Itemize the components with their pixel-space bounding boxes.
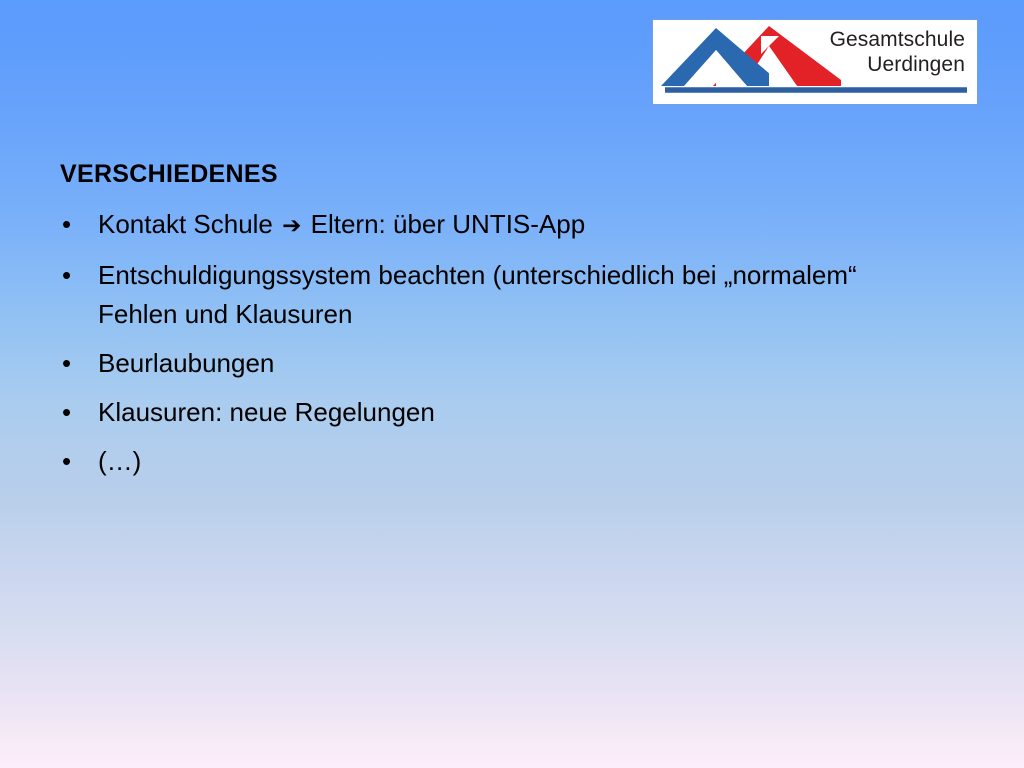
logo-wordmark: Gesamtschule Uerdingen: [830, 28, 965, 78]
bullet-text-beurlaubungen: Beurlaubungen: [98, 344, 916, 383]
bullet-marker: •: [62, 442, 82, 481]
bullet-text-klausuren-regelungen: Klausuren: neue Regelungen: [98, 393, 916, 432]
logo-line-2: Uerdingen: [830, 53, 965, 78]
bullet-text-after-arrow: Eltern: über UNTIS-App: [303, 209, 585, 239]
page-title: VERSCHIEDENES: [60, 160, 278, 189]
mountain-roof-icon: [661, 24, 841, 86]
presentation-slide: Gesamtschule Uerdingen VERSCHIEDENES • K…: [0, 0, 1024, 768]
right-arrow-icon: ➔: [280, 213, 303, 239]
bullet-list: • Kontakt Schule ➔ Eltern: über UNTIS-Ap…: [56, 205, 916, 481]
bullet-marker: •: [62, 393, 82, 432]
bullet-marker: •: [62, 256, 82, 295]
bullet-marker: •: [62, 344, 82, 383]
bullet-text-weiteres: (…): [98, 442, 916, 481]
list-item: • Beurlaubungen: [56, 344, 916, 383]
list-item: • Kontakt Schule ➔ Eltern: über UNTIS-Ap…: [56, 205, 916, 246]
list-item: • Klausuren: neue Regelungen: [56, 393, 916, 432]
logo-line-1: Gesamtschule: [830, 28, 965, 53]
bullet-text-before-arrow: Kontakt Schule: [98, 209, 280, 239]
list-item: • (…): [56, 442, 916, 481]
list-item: • Entschuldigungssystem beachten (unters…: [56, 256, 916, 334]
bullet-text-entschuldigungssystem: Entschuldigungssystem beachten (untersch…: [98, 256, 916, 334]
bullet-text-kontakt-schule-eltern: Kontakt Schule ➔ Eltern: über UNTIS-App: [98, 205, 916, 246]
logo-divider-rule: [665, 87, 967, 93]
school-logo: Gesamtschule Uerdingen: [652, 19, 978, 105]
bullet-marker: •: [62, 205, 82, 244]
